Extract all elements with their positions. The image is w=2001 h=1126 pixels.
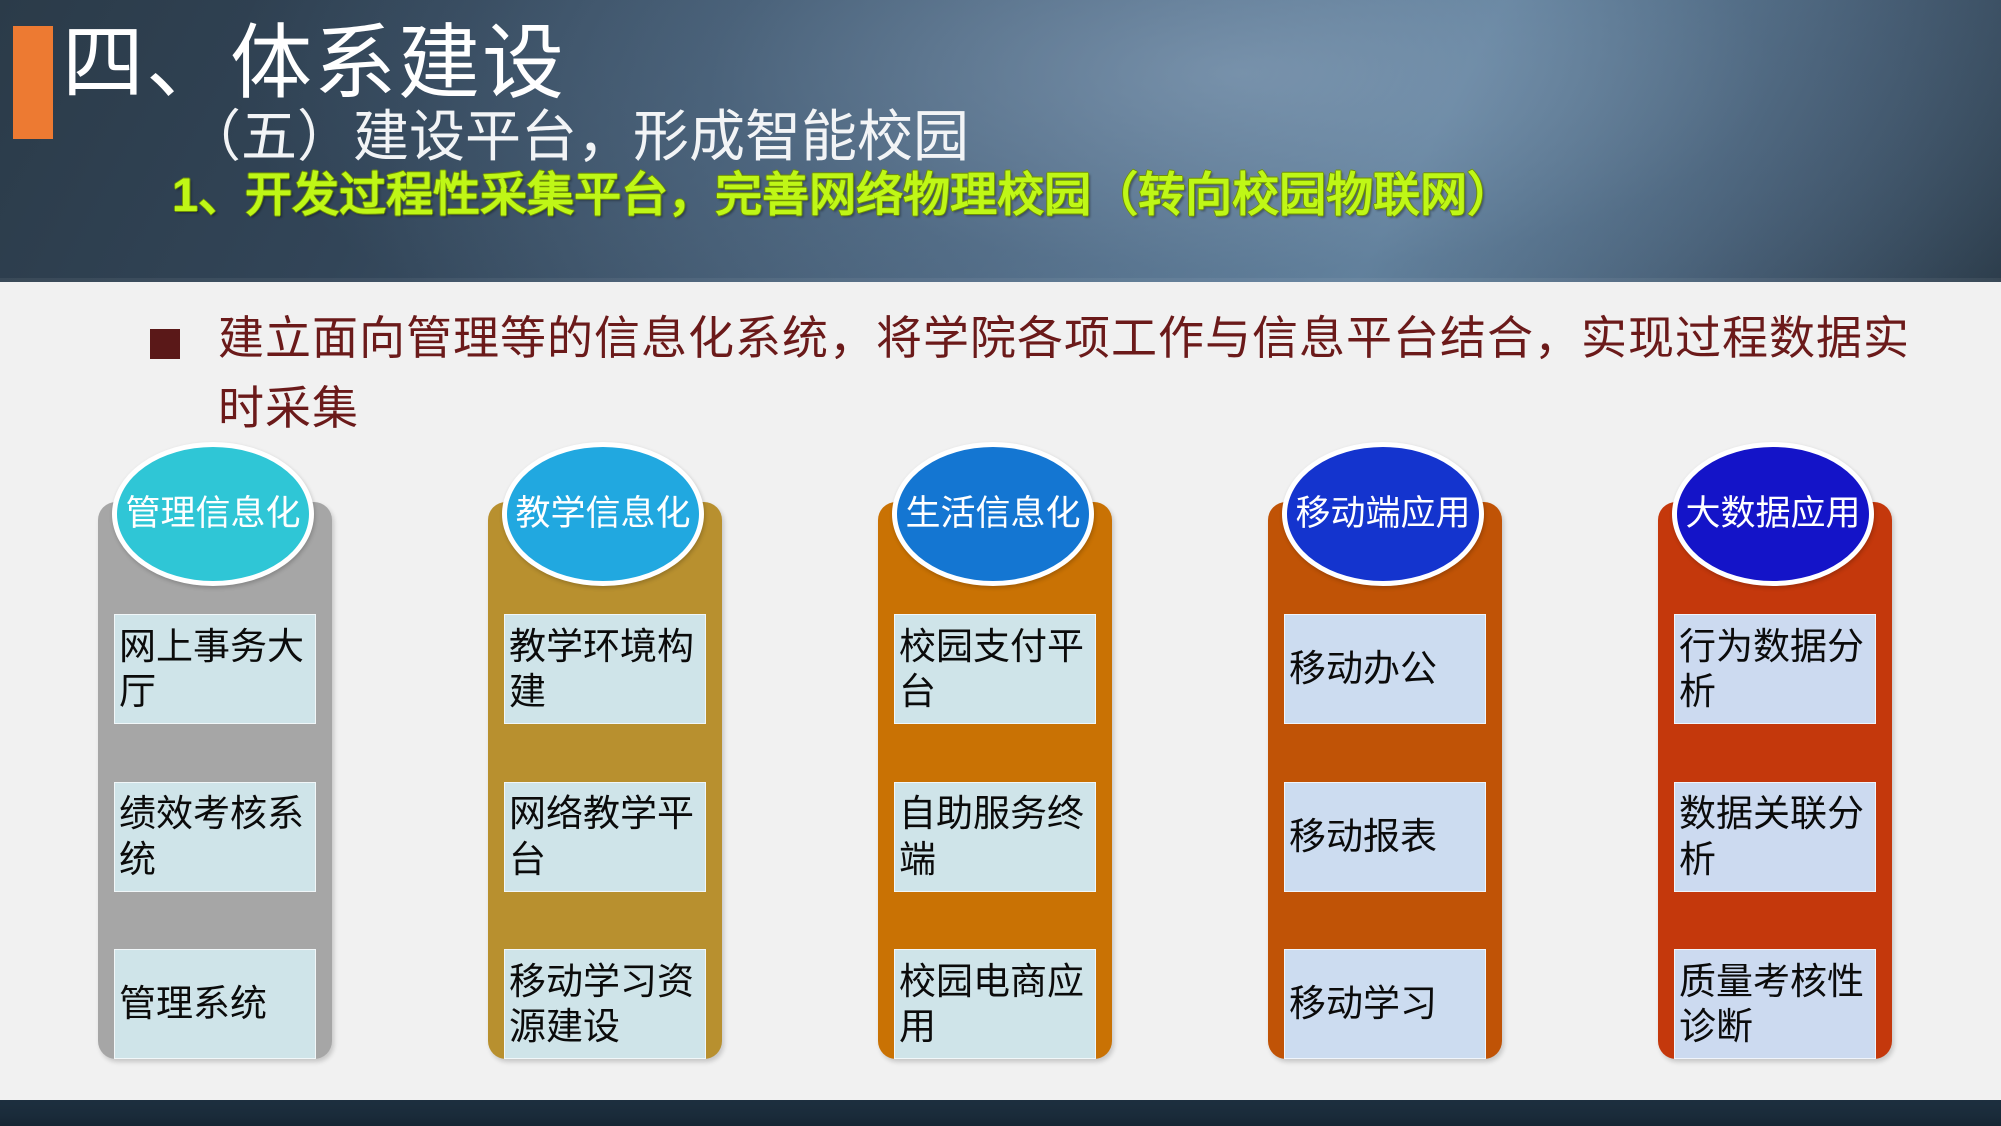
pillar-cap-ellipse: 生活信息化 <box>892 442 1094 586</box>
pillar-item-list: 移动办公移动报表移动学习 <box>1268 614 1502 1059</box>
slide-header: 四、体系建设 （五）建设平台，形成智能校园 1、开发过程性采集平台，完善网络物理… <box>0 0 2001 282</box>
pillar-item-label: 数据关联分析 <box>1679 791 1871 881</box>
pillar-cap-label: 移动端应用 <box>1289 494 1476 534</box>
pillar-item[interactable]: 移动学习资源建设 <box>504 949 706 1059</box>
pillar-item-label: 质量考核性诊断 <box>1679 959 1871 1049</box>
pillar-cap-label: 大数据应用 <box>1679 494 1866 534</box>
pillar-item-label: 移动学习 <box>1289 981 1481 1026</box>
orange-accent-bar <box>13 26 53 139</box>
pillar-item[interactable]: 数据关联分析 <box>1674 782 1876 892</box>
pillar-cap-ellipse: 管理信息化 <box>112 442 314 586</box>
pillar-item-label: 网络教学平台 <box>509 791 701 881</box>
pillar-diagram: 管理信息化网上事务大厅绩效考核系统管理系统教学信息化教学环境构建网络教学平台移动… <box>0 442 2001 1092</box>
bullet-text: 建立面向管理等的信息化系统，将学院各项工作与信息平台结合，实现过程数据实时采集 <box>218 304 1910 444</box>
pillar-item-label: 绩效考核系统 <box>119 791 311 881</box>
pillar-item[interactable]: 校园电商应用 <box>894 949 1096 1059</box>
pillar-item-list: 校园支付平台自助服务终端校园电商应用 <box>878 614 1112 1059</box>
pillar-item[interactable]: 移动学习 <box>1284 949 1486 1059</box>
pillar-column: 教学信息化教学环境构建网络教学平台移动学习资源建设 <box>470 442 740 1062</box>
pillar-item-label: 自助服务终端 <box>899 791 1091 881</box>
bullet-square-icon <box>150 329 180 359</box>
pillar-item-label: 行为数据分析 <box>1679 624 1871 714</box>
pillar-item[interactable]: 行为数据分析 <box>1674 614 1876 724</box>
pillar-item[interactable]: 移动办公 <box>1284 614 1486 724</box>
pillar-item[interactable]: 校园支付平台 <box>894 614 1096 724</box>
pillar-item[interactable]: 自助服务终端 <box>894 782 1096 892</box>
pillar-column: 生活信息化校园支付平台自助服务终端校园电商应用 <box>860 442 1130 1062</box>
pillar-item-label: 移动办公 <box>1289 646 1481 691</box>
pillar-item-label: 校园电商应用 <box>899 959 1091 1049</box>
pillar-cap-label: 管理信息化 <box>119 494 306 534</box>
page-highlight-heading: 1、开发过程性采集平台，完善网络物理校园（转向校园物联网） <box>172 167 1514 223</box>
pillar-cap-ellipse: 教学信息化 <box>502 442 704 586</box>
pillar-item[interactable]: 管理系统 <box>114 949 316 1059</box>
pillar-item-list: 教学环境构建网络教学平台移动学习资源建设 <box>488 614 722 1059</box>
pillar-column: 管理信息化网上事务大厅绩效考核系统管理系统 <box>80 442 350 1062</box>
pillar-item-label: 移动学习资源建设 <box>509 959 701 1049</box>
pillar-column: 大数据应用行为数据分析数据关联分析质量考核性诊断 <box>1640 442 1910 1062</box>
pillar-item-list: 网上事务大厅绩效考核系统管理系统 <box>98 614 332 1059</box>
pillar-item-label: 移动报表 <box>1289 814 1481 859</box>
pillar-item-label: 教学环境构建 <box>509 624 701 714</box>
pillar-cap-ellipse: 大数据应用 <box>1672 442 1874 586</box>
slide-content: 建立面向管理等的信息化系统，将学院各项工作与信息平台结合，实现过程数据实时采集 … <box>0 282 2001 1100</box>
page-subtitle: （五）建设平台，形成智能校园 <box>185 104 969 170</box>
pillar-cap-label: 生活信息化 <box>899 494 1086 534</box>
pillar-item-label: 管理系统 <box>119 981 311 1026</box>
page-title: 四、体系建设 <box>62 17 566 111</box>
pillar-item-list: 行为数据分析数据关联分析质量考核性诊断 <box>1658 614 1892 1059</box>
slide-root: 四、体系建设 （五）建设平台，形成智能校园 1、开发过程性采集平台，完善网络物理… <box>0 0 2001 1126</box>
pillar-item[interactable]: 移动报表 <box>1284 782 1486 892</box>
pillar-item-label: 校园支付平台 <box>899 624 1091 714</box>
pillar-item[interactable]: 网上事务大厅 <box>114 614 316 724</box>
pillar-item[interactable]: 教学环境构建 <box>504 614 706 724</box>
bullet-block: 建立面向管理等的信息化系统，将学院各项工作与信息平台结合，实现过程数据实时采集 <box>150 304 1910 444</box>
pillar-item[interactable]: 网络教学平台 <box>504 782 706 892</box>
pillar-cap-label: 教学信息化 <box>509 494 696 534</box>
pillar-item[interactable]: 绩效考核系统 <box>114 782 316 892</box>
pillar-item[interactable]: 质量考核性诊断 <box>1674 949 1876 1059</box>
pillar-item-label: 网上事务大厅 <box>119 624 311 714</box>
pillar-column: 移动端应用移动办公移动报表移动学习 <box>1250 442 1520 1062</box>
slide-footer-bar <box>0 1100 2001 1126</box>
pillar-cap-ellipse: 移动端应用 <box>1282 442 1484 586</box>
